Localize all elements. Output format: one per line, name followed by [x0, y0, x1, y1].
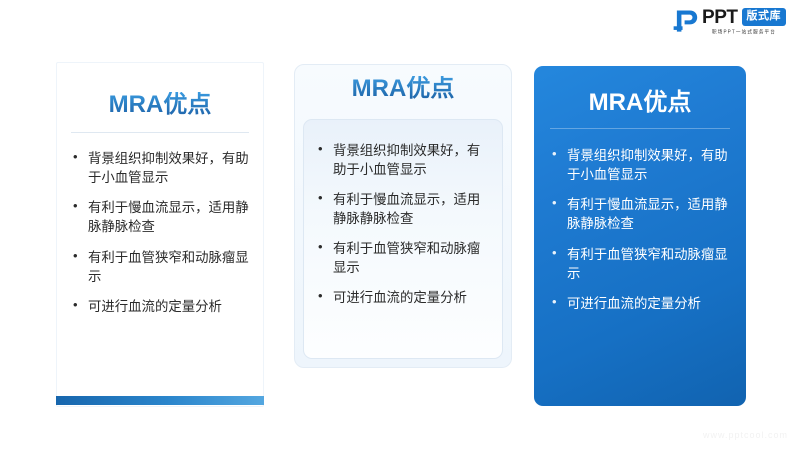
brand-name: PPT — [702, 8, 737, 27]
brand-logo[interactable]: PPT 版式库 职场PPT一站式服务平台 — [672, 6, 786, 36]
card-blue-divider — [550, 128, 730, 129]
list-item: 背景组织抑制效果好，有助于小血管显示 — [71, 149, 249, 187]
watermark: www.pptcool.com — [703, 430, 788, 440]
card-plain[interactable]: MRA优点 背景组织抑制效果好，有助于小血管显示 有利于慢血流显示，适用静脉静脉… — [56, 62, 264, 407]
list-item: 可进行血流的定量分析 — [550, 294, 730, 313]
card-blue-bullet-list: 背景组织抑制效果好，有助于小血管显示 有利于慢血流显示，适用静脉静脉检查 有利于… — [550, 146, 730, 312]
list-item: 有利于慢血流显示，适用静脉静脉检查 — [550, 195, 730, 233]
list-item: 有利于慢血流显示，适用静脉静脉检查 — [316, 190, 490, 228]
list-item: 可进行血流的定量分析 — [316, 288, 490, 307]
list-item: 背景组织抑制效果好，有助于小血管显示 — [550, 146, 730, 184]
card-blue-title: MRA优点 — [534, 90, 746, 116]
card-light-title: MRA优点 — [295, 76, 511, 102]
card-plain-accent-bar — [56, 396, 264, 405]
list-item: 可进行血流的定量分析 — [71, 297, 249, 316]
card-plain-title: MRA优点 — [57, 92, 263, 118]
list-item: 背景组织抑制效果好，有助于小血管显示 — [316, 141, 490, 179]
card-plain-divider — [71, 132, 249, 133]
brand-text: PPT 版式库 职场PPT一站式服务平台 — [702, 8, 786, 35]
list-item: 有利于血管狭窄和动脉瘤显示 — [71, 248, 249, 286]
list-item: 有利于慢血流显示，适用静脉静脉检查 — [71, 198, 249, 236]
brand-tagline: 职场PPT一站式服务平台 — [702, 29, 786, 36]
list-item: 有利于血管狭窄和动脉瘤显示 — [550, 245, 730, 283]
card-plain-bullet-list: 背景组织抑制效果好，有助于小血管显示 有利于慢血流显示，适用静脉静脉检查 有利于… — [71, 149, 249, 315]
slide-canvas: PPT 版式库 职场PPT一站式服务平台 MRA优点 背景组织抑制效果好，有助于… — [0, 0, 800, 450]
card-blue[interactable]: MRA优点 背景组织抑制效果好，有助于小血管显示 有利于慢血流显示，适用静脉静脉… — [534, 66, 746, 406]
card-light[interactable]: MRA优点 背景组织抑制效果好，有助于小血管显示 有利于慢血流显示，适用静脉静脉… — [294, 64, 512, 368]
card-light-inner-panel: 背景组织抑制效果好，有助于小血管显示 有利于慢血流显示，适用静脉静脉检查 有利于… — [303, 119, 503, 359]
ppt-p-logo-icon — [672, 8, 698, 34]
brand-badge: 版式库 — [742, 8, 787, 26]
brand-row: PPT 版式库 — [702, 8, 786, 27]
list-item: 有利于血管狭窄和动脉瘤显示 — [316, 239, 490, 277]
card-light-bullet-list: 背景组织抑制效果好，有助于小血管显示 有利于慢血流显示，适用静脉静脉检查 有利于… — [316, 141, 490, 307]
